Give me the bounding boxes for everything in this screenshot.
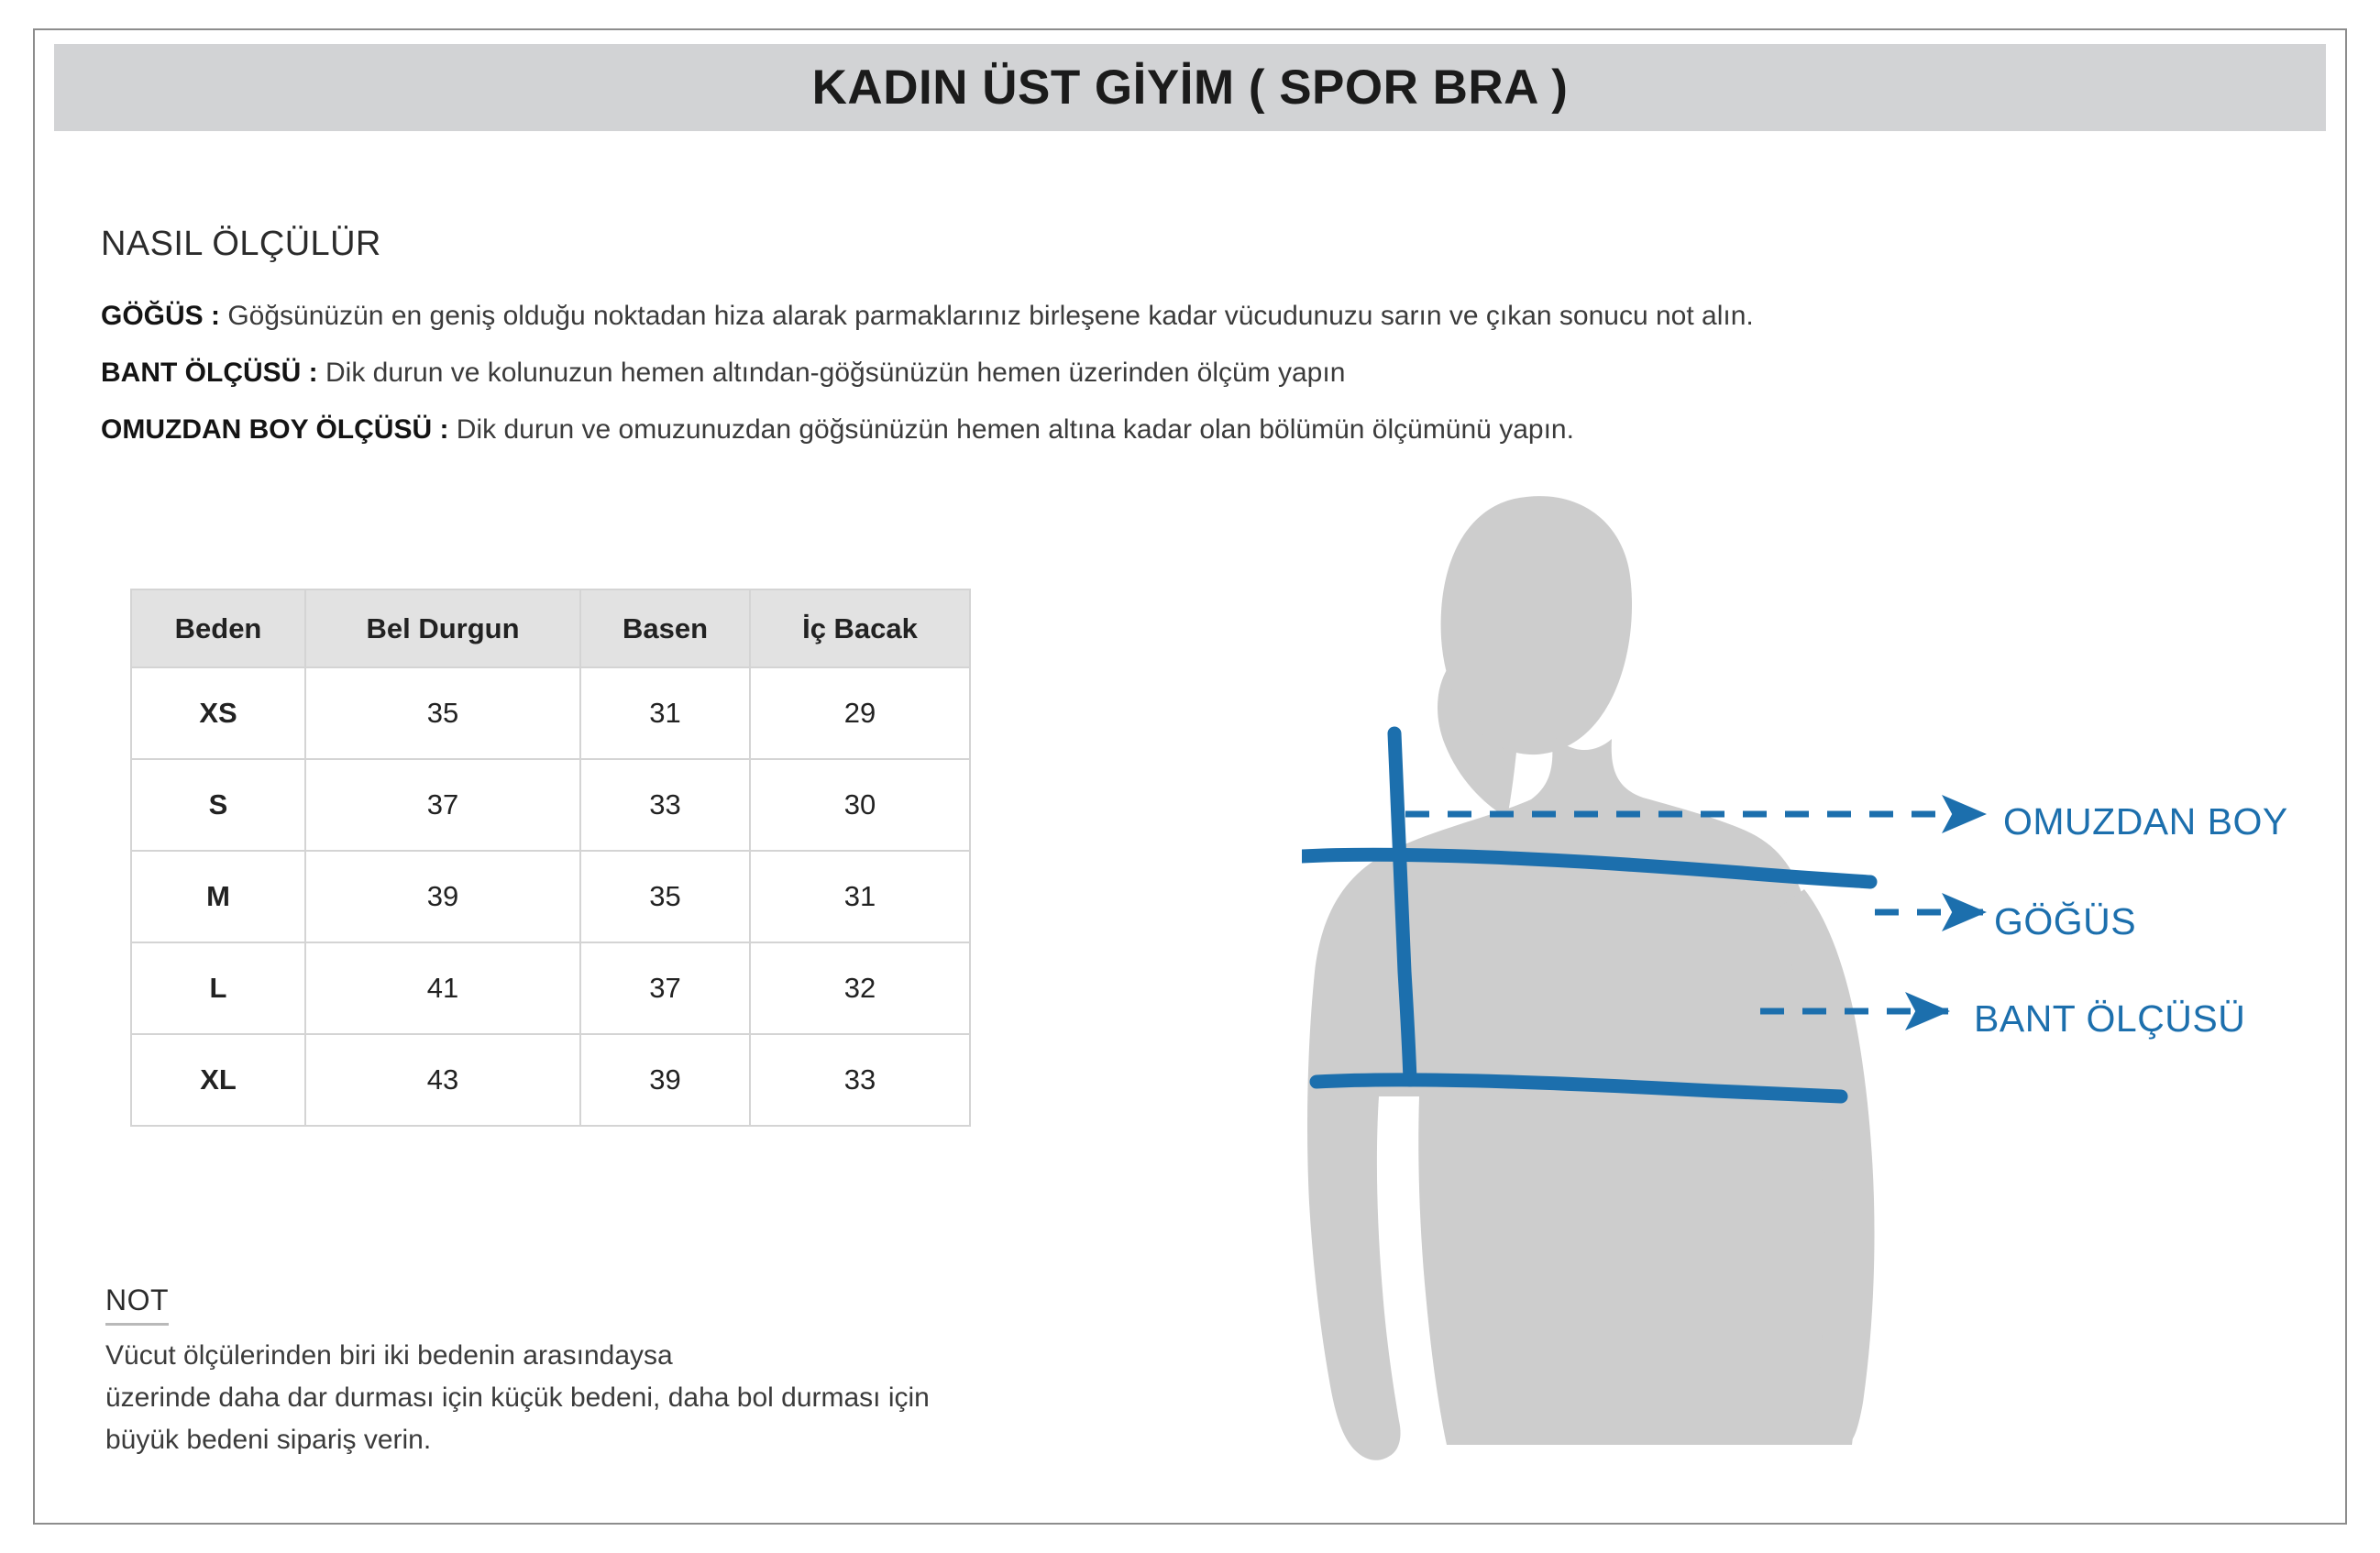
measure-text-gogus: Göğsünüzün en geniş olduğu noktadan hiza…	[220, 301, 1754, 331]
cell-ic-bacak: 33	[750, 1034, 970, 1126]
annotation-label-omuzdan-boy: OMUZDAN BOY	[2003, 800, 2288, 843]
measure-label-omuzdan: OMUZDAN BOY ÖLÇÜSÜ :	[101, 414, 448, 445]
cell-bel-durgun: 35	[305, 667, 580, 759]
note-line-1: Vücut ölçülerinden biri iki bedenin aras…	[105, 1335, 1297, 1377]
measure-instruction-omuzdan: OMUZDAN BOY ÖLÇÜSÜ : Dik durun ve omuzun…	[101, 402, 2209, 458]
cell-ic-bacak: 31	[750, 851, 970, 942]
cell-basen: 33	[580, 759, 750, 851]
measure-label-bant: BANT ÖLÇÜSÜ :	[101, 358, 318, 388]
measure-text-omuzdan: Dik durun ve omuzunuzdan göğsünüzün heme…	[448, 414, 1573, 445]
measure-instruction-gogus: GÖĞÜS : Göğsünüzün en geniş olduğu nokta…	[101, 288, 2209, 345]
table-header-row: Beden Bel Durgun Basen İç Bacak	[131, 589, 970, 667]
note-line-3: büyük bedeni sipariş verin.	[105, 1419, 1297, 1461]
measure-instruction-bant: BANT ÖLÇÜSÜ : Dik durun ve kolunuzun hem…	[101, 345, 2209, 402]
header-band: KADIN ÜST GİYİM ( SPOR BRA )	[54, 44, 2326, 131]
cell-bel-durgun: 39	[305, 851, 580, 942]
table-row: S 37 33 30	[131, 759, 970, 851]
cell-size: XL	[131, 1034, 305, 1126]
table-header-basen: Basen	[580, 589, 750, 667]
cell-size: XS	[131, 667, 305, 759]
note-title: NOT	[105, 1283, 169, 1326]
cell-bel-durgun: 37	[305, 759, 580, 851]
how-to-measure-section: NASIL ÖLÇÜLÜR GÖĞÜS : Göğsünüzün en geni…	[101, 225, 2209, 458]
cell-size: L	[131, 942, 305, 1034]
measure-label-gogus: GÖĞÜS :	[101, 301, 220, 331]
annotation-label-gogus: GÖĞÜS	[1994, 900, 2136, 943]
size-chart-page: KADIN ÜST GİYİM ( SPOR BRA ) NASIL ÖLÇÜL…	[0, 0, 2380, 1553]
measure-text-bant: Dik durun ve kolunuzun hemen altından-gö…	[318, 358, 1346, 388]
female-silhouette-icon	[1307, 496, 1875, 1460]
table-header-beden: Beden	[131, 589, 305, 667]
cell-basen: 35	[580, 851, 750, 942]
table-row: XL 43 39 33	[131, 1034, 970, 1126]
cell-size: S	[131, 759, 305, 851]
page-title: KADIN ÜST GİYİM ( SPOR BRA )	[812, 60, 1569, 116]
cell-basen: 39	[580, 1034, 750, 1126]
cell-basen: 31	[580, 667, 750, 759]
cell-ic-bacak: 29	[750, 667, 970, 759]
cell-basen: 37	[580, 942, 750, 1034]
cell-bel-durgun: 41	[305, 942, 580, 1034]
cell-ic-bacak: 32	[750, 942, 970, 1034]
note-line-2: üzerinde daha dar durması için küçük bed…	[105, 1377, 1297, 1419]
cell-bel-durgun: 43	[305, 1034, 580, 1126]
table-row: L 41 37 32	[131, 942, 970, 1034]
cell-size: M	[131, 851, 305, 942]
table-row: M 39 35 31	[131, 851, 970, 942]
table-header-ic-bacak: İç Bacak	[750, 589, 970, 667]
table-row: XS 35 31 29	[131, 667, 970, 759]
measurement-figure	[1302, 458, 2329, 1494]
how-to-measure-heading: NASIL ÖLÇÜLÜR	[101, 225, 2209, 264]
female-silhouette-diagram	[1302, 458, 2329, 1494]
table-header-bel-durgun: Bel Durgun	[305, 589, 580, 667]
size-table: Beden Bel Durgun Basen İç Bacak XS 35 31…	[130, 589, 971, 1127]
note-section: NOT Vücut ölçülerinden biri iki bedenin …	[105, 1283, 1297, 1461]
annotation-label-bant-olcusu: BANT ÖLÇÜSÜ	[1974, 997, 2245, 1041]
cell-ic-bacak: 30	[750, 759, 970, 851]
